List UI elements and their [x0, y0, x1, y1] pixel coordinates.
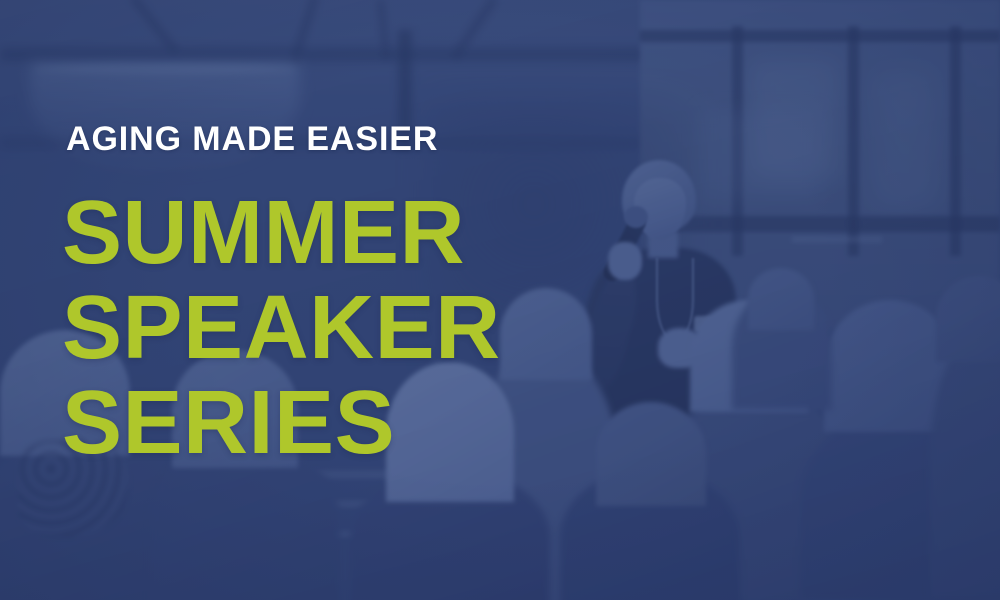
headline-line-2: SPEAKER [62, 281, 501, 376]
summer-speaker-series-banner: AGING MADE EASIER SUMMER SPEAKER SERIES [0, 0, 1000, 600]
headline: SUMMER SPEAKER SERIES [62, 186, 501, 471]
eyebrow-tagline: AGING MADE EASIER [66, 122, 438, 156]
headline-line-1: SUMMER [62, 186, 501, 281]
text-layer: AGING MADE EASIER SUMMER SPEAKER SERIES [66, 0, 666, 600]
headline-line-3: SERIES [62, 376, 501, 471]
